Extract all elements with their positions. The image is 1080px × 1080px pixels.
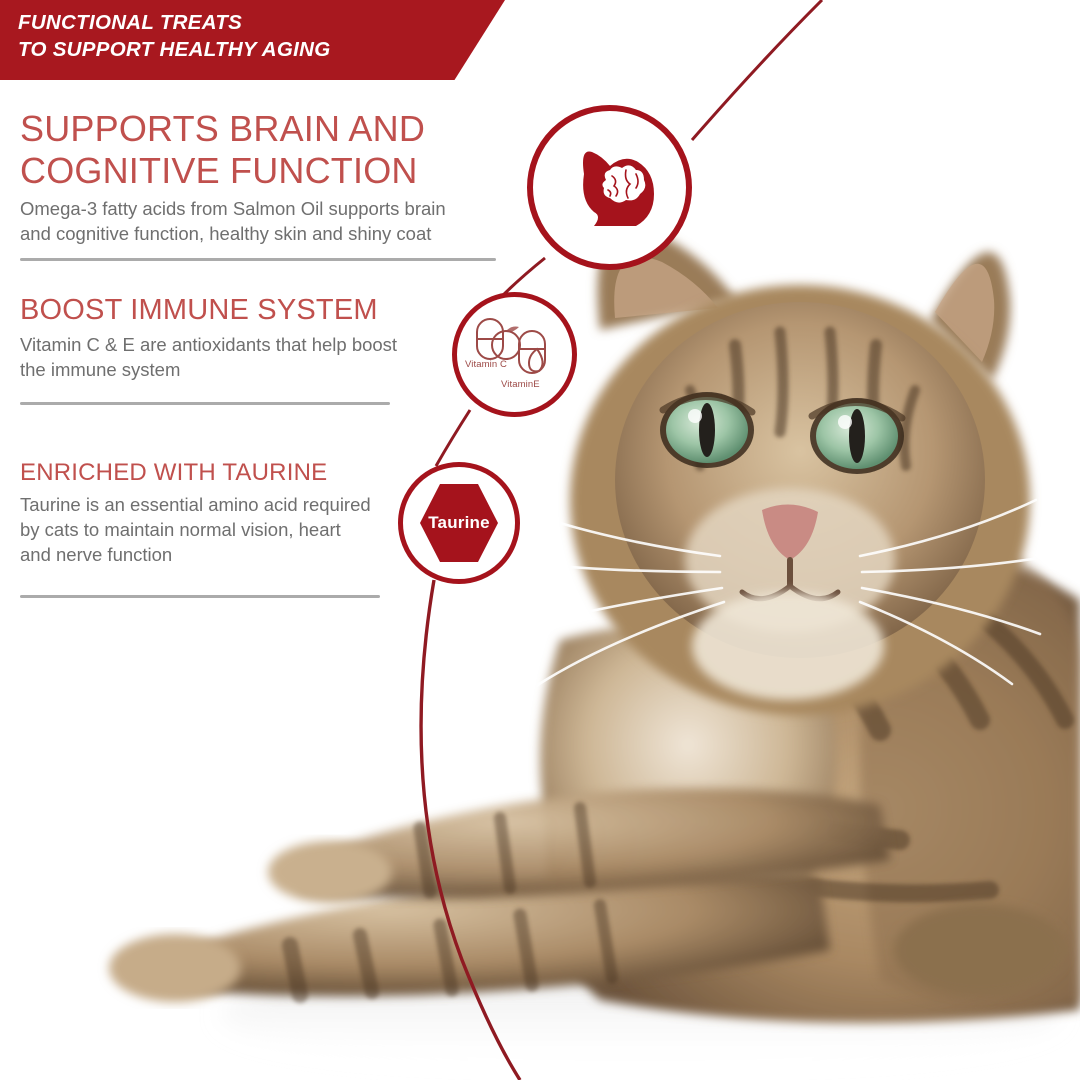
divider-3 [20, 595, 380, 598]
badge-brain [527, 105, 692, 270]
badge-vitamin: Vitamin C VitaminE [452, 292, 577, 417]
divider-2 [20, 402, 390, 405]
taurine-hexagon-icon [410, 474, 508, 572]
banner-line-2: TO SUPPORT HEALTHY AGING [18, 36, 448, 63]
feature-body-taurine: Taurine is an essential amino acid requi… [20, 492, 371, 567]
vitamin-capsules-icon [465, 305, 565, 405]
cat-head-brain-icon [550, 128, 670, 248]
feature-title-taurine: ENRICHED WITH TAURINE [20, 458, 371, 488]
feature-enriched-taurine: ENRICHED WITH TAURINE Taurine is an esse… [20, 458, 371, 567]
feature-title-immune: BOOST IMMUNE SYSTEM [20, 292, 397, 328]
feature-body-immune: Vitamin C & E are antioxidants that help… [20, 332, 397, 382]
feature-boost-immune: BOOST IMMUNE SYSTEM Vitamin C & E are an… [20, 292, 397, 382]
feature-supports-brain: SUPPORTS BRAIN AND COGNITIVE FUNCTION Om… [20, 108, 446, 246]
header-banner-text: FUNCTIONAL TREATS TO SUPPORT HEALTHY AGI… [18, 9, 448, 63]
banner-line-1: FUNCTIONAL TREATS [18, 9, 448, 36]
divider-1 [20, 258, 496, 261]
feature-body-brain: Omega-3 fatty acids from Salmon Oil supp… [20, 196, 446, 246]
infographic-canvas: FUNCTIONAL TREATS TO SUPPORT HEALTHY AGI… [0, 0, 1080, 1080]
badge-taurine: Taurine [398, 462, 520, 584]
feature-title-brain: SUPPORTS BRAIN AND COGNITIVE FUNCTION [20, 108, 446, 192]
